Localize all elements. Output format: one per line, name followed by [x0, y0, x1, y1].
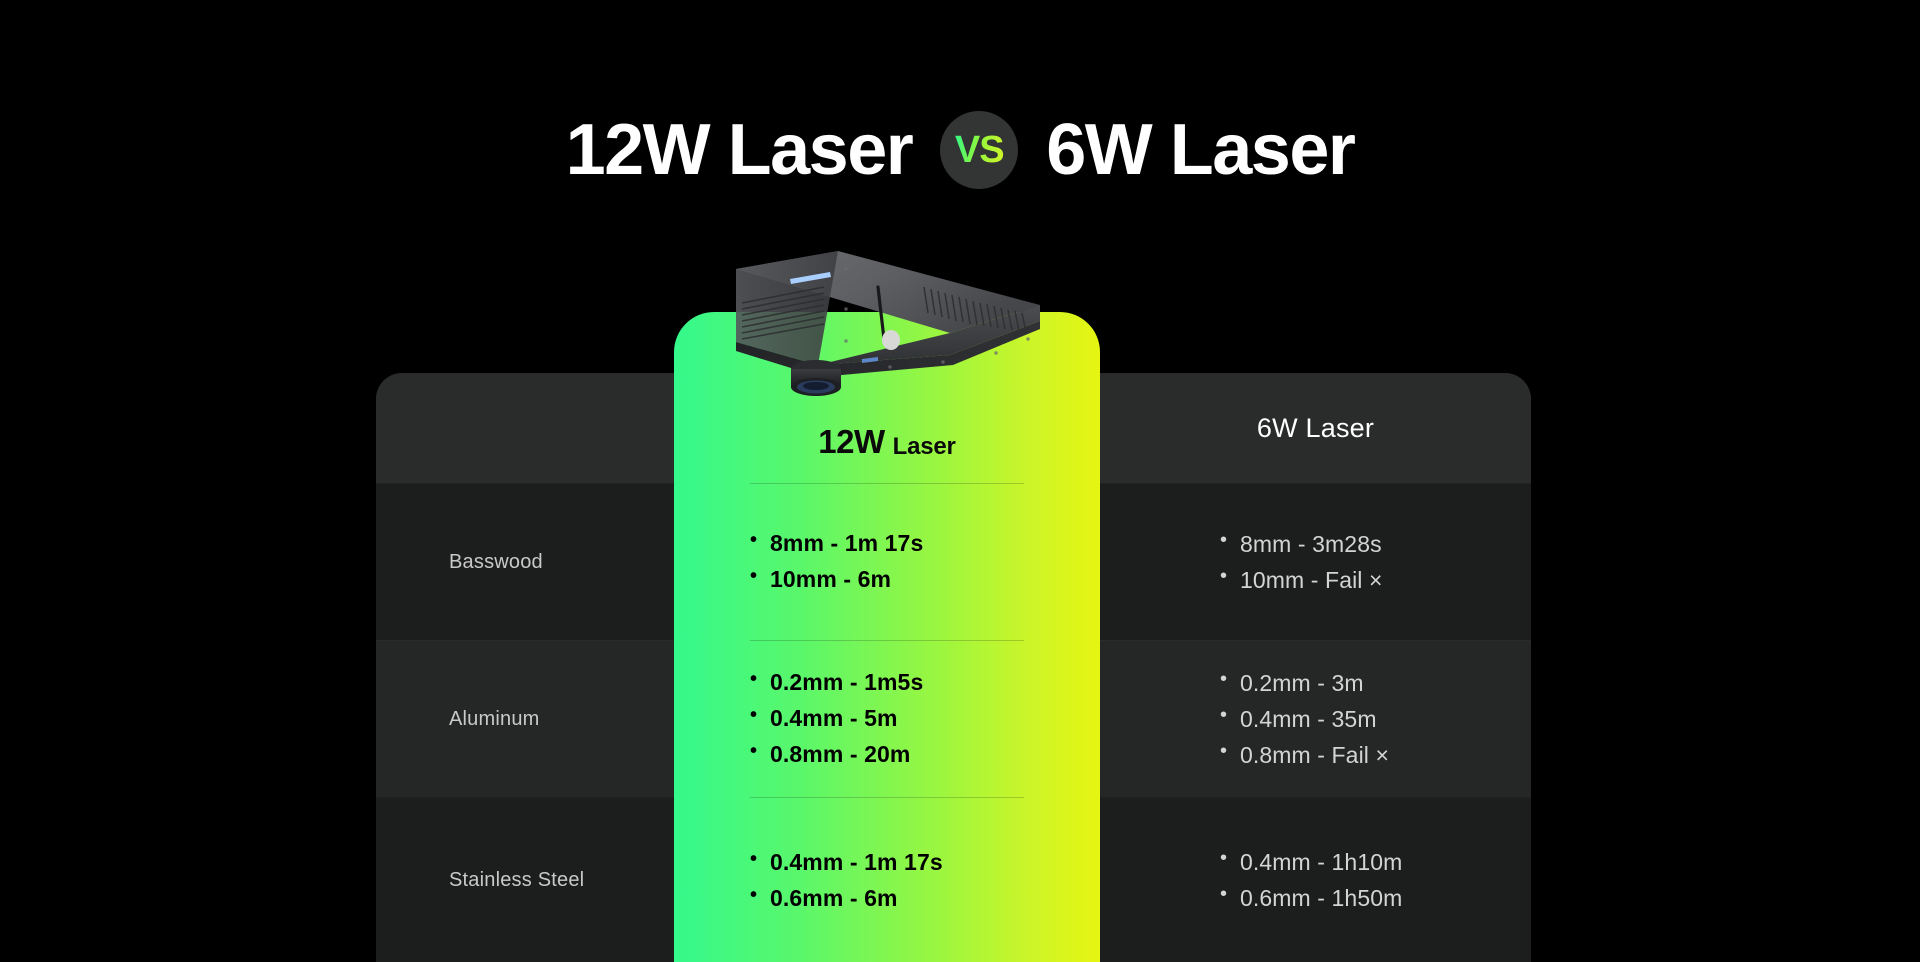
list-item: 0.4mm - 1m 17s — [750, 845, 1100, 881]
material-label: Basswood — [376, 551, 674, 574]
list-item: 0.4mm - 5m — [750, 701, 1100, 737]
highlight-cell: 0.2mm - 1m5s 0.4mm - 5m 0.8mm - 20m — [674, 641, 1100, 797]
list-item: 0.4mm - 35m — [1220, 701, 1531, 737]
material-label: Aluminum — [376, 708, 674, 731]
vs-badge: VS — [940, 111, 1018, 189]
list-item: 10mm - Fail × — [1220, 562, 1531, 598]
highlight-column: 12W Laser 8mm - 1m 17s 10mm - 6m 0.2mm -… — [674, 312, 1100, 962]
list-item: 10mm - 6m — [750, 562, 1100, 598]
highlight-cell: 8mm - 1m 17s 10mm - 6m — [674, 484, 1100, 640]
highlight-header-power: 12W — [818, 423, 884, 461]
hero-right-title: 6W Laser — [1046, 114, 1354, 186]
compare-cell: 0.2mm - 3m 0.4mm - 35m 0.8mm - Fail × — [1100, 665, 1531, 774]
list-item: 0.8mm - 20m — [750, 737, 1100, 773]
laser-module-image — [728, 247, 1048, 407]
highlight-cell: 0.4mm - 1m 17s 0.6mm - 6m — [674, 798, 1100, 962]
list-item: 0.2mm - 3m — [1220, 665, 1531, 701]
compare-cell: 0.4mm - 1h10m 0.6mm - 1h50m — [1100, 844, 1531, 917]
vs-label: VS — [955, 129, 1004, 172]
list-item: 0.6mm - 6m — [750, 881, 1100, 917]
list-item: 0.8mm - Fail × — [1220, 737, 1531, 773]
list-item: 0.6mm - 1h50m — [1220, 880, 1531, 916]
list-item: 0.2mm - 1m5s — [750, 665, 1100, 701]
material-label: Stainless Steel — [376, 869, 674, 892]
list-item: 8mm - 1m 17s — [750, 526, 1100, 562]
compare-cell: 8mm - 3m28s 10mm - Fail × — [1100, 526, 1531, 599]
highlight-header-label: Laser — [893, 433, 956, 461]
list-item: 8mm - 3m28s — [1220, 526, 1531, 562]
list-item: 0.4mm - 1h10m — [1220, 844, 1531, 880]
hero-left-title: 12W Laser — [566, 114, 913, 186]
